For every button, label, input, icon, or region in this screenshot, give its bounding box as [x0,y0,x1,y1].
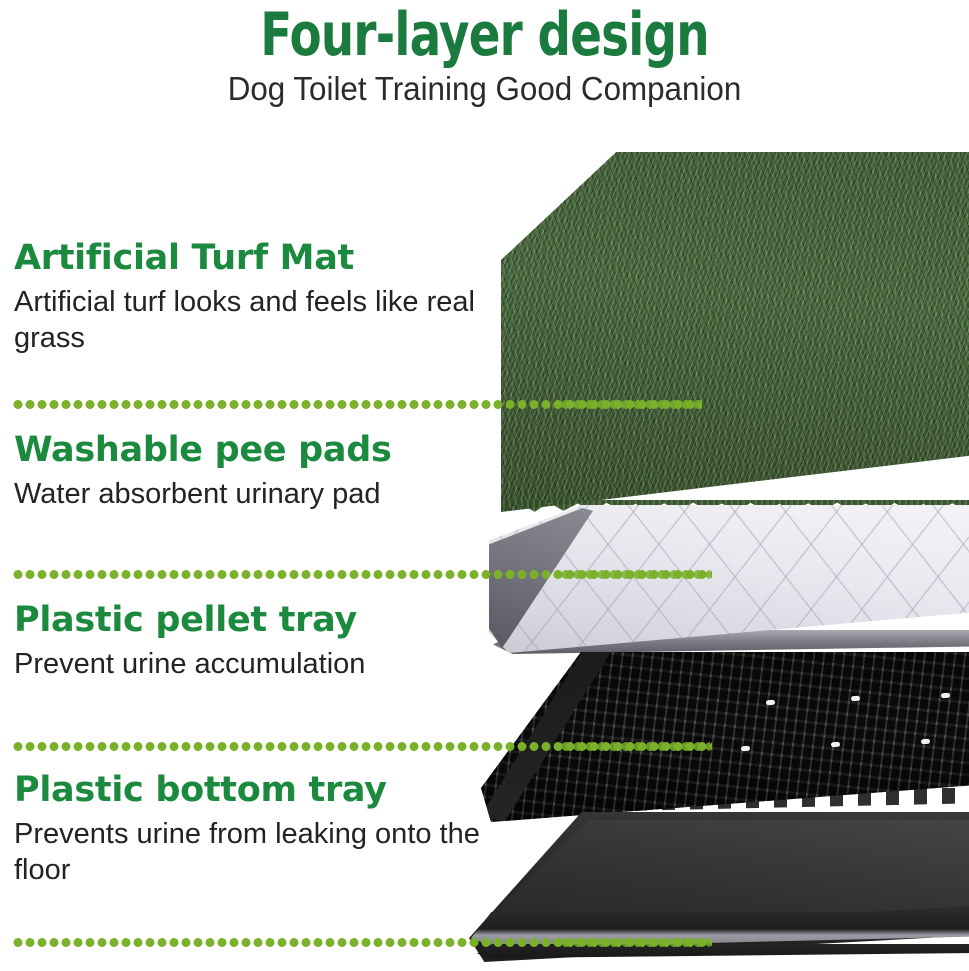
feature-title: Plastic pellet tray [14,600,514,640]
feature-description: Prevent urine accumulation [14,646,484,682]
feature-title: Washable pee pads [14,430,514,470]
feature-block-plastic-bottom-tray: Plastic bottom tray Prevents urine from … [14,770,514,888]
turf-mat-layer [501,152,969,512]
feature-title: Plastic bottom tray [14,770,514,810]
feature-block-washable-pee-pad: Washable pee pads Water absorbent urinar… [14,430,514,512]
feature-title: Artificial Turf Mat [14,238,514,278]
product-exploded-view [449,0,969,971]
feature-description: Artificial turf looks and feels like rea… [14,284,484,356]
feature-block-plastic-pellet-tray: Plastic pellet tray Prevent urine accumu… [14,600,514,682]
feature-block-artificial-turf-mat: Artificial Turf Mat Artificial turf look… [14,238,514,356]
feature-description: Prevents urine from leaking onto the flo… [14,816,484,888]
bottom-tray-foot [477,944,969,962]
feature-description: Water absorbent urinary pad [14,476,484,512]
diagram-stage: Artificial Turf Mat Artificial turf look… [0,0,969,971]
